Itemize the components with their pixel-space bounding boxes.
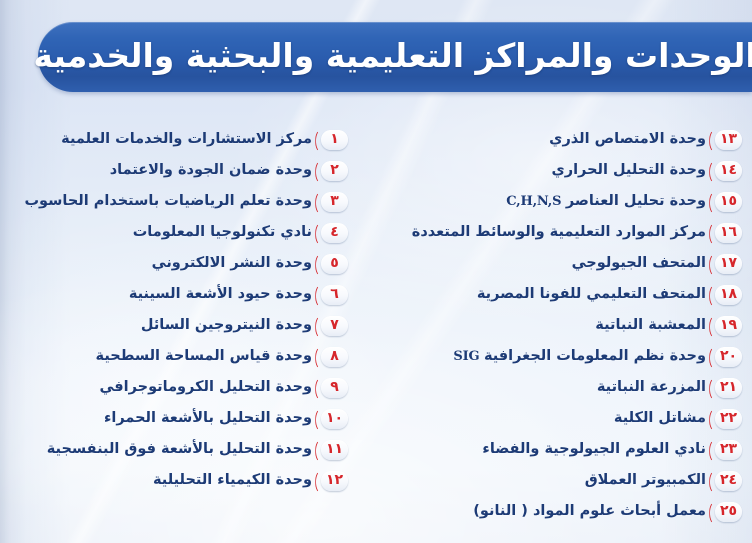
item-number-badge: ١٣	[715, 130, 742, 150]
badge-arc-icon	[315, 160, 328, 184]
item-number-badge: ٤	[321, 223, 348, 243]
list-item[interactable]: ٨وحدة قياس المساحة السطحية	[8, 341, 348, 372]
badge-arc-icon	[315, 253, 328, 277]
list-item[interactable]: ١٠وحدة التحليل بالأشعة الحمراء	[8, 403, 348, 434]
item-number-badge: ١٠	[321, 409, 348, 429]
item-label: وحدة تعلم الرياضيات باستخدام الحاسوب	[24, 194, 312, 210]
item-number: ٣	[330, 194, 339, 209]
item-number-badge: ١٧	[715, 254, 742, 274]
item-number-badge: ٦	[321, 285, 348, 305]
list-item[interactable]: ٣وحدة تعلم الرياضيات باستخدام الحاسوب	[8, 186, 348, 217]
item-number-badge: ٢	[321, 161, 348, 181]
item-number: ٢١	[720, 380, 737, 395]
item-label: مركز الموارد التعليمية والوسائط المتعددة	[412, 225, 706, 241]
item-number: ٢٠	[720, 349, 737, 364]
item-number: ١٢	[326, 473, 343, 488]
item-number: ١	[330, 132, 339, 147]
item-number: ١١	[326, 442, 343, 457]
item-number-badge: ١٦	[715, 223, 742, 243]
item-number-badge: ١٥	[715, 192, 742, 212]
item-number: ١٨	[720, 287, 737, 302]
item-number-badge: ٧	[321, 316, 348, 336]
list-item[interactable]: ٢وحدة ضمان الجودة والاعتماد	[8, 155, 348, 186]
item-number-badge: ٢٥	[715, 502, 742, 522]
list-item[interactable]: ١٥وحدة تحليل العناصر C,H,N,S	[394, 186, 742, 217]
item-number-badge: ٥	[321, 254, 348, 274]
list-item[interactable]: ٧وحدة النيتروجين السائل	[8, 310, 348, 341]
item-label: وحدة التحليل بالأشعة فوق البنفسجية	[47, 442, 312, 458]
item-number: ١٦	[720, 225, 737, 240]
item-number-badge: ٣	[321, 192, 348, 212]
badge-arc-icon	[315, 284, 328, 308]
badge-arc-icon	[709, 160, 722, 184]
item-number: ٤	[330, 225, 339, 240]
item-number-badge: ٩	[321, 378, 348, 398]
list-item[interactable]: ١٧المتحف الجيولوجي	[394, 248, 742, 279]
item-number: ١٩	[720, 318, 737, 333]
item-label: نادي تكنولوجيا المعلومات	[133, 225, 312, 241]
item-number-badge: ٢١	[715, 378, 742, 398]
list-item[interactable]: ٢٠وحدة نظم المعلومات الجغرافية SIG	[394, 341, 742, 372]
item-number-badge: ١١	[321, 440, 348, 460]
list-item[interactable]: ٢٥معمل أبحاث علوم المواد ( النانو)	[394, 496, 742, 527]
list-item[interactable]: ٥وحدة النشر الالكتروني	[8, 248, 348, 279]
badge-arc-icon	[709, 439, 722, 463]
list-item[interactable]: ١٦مركز الموارد التعليمية والوسائط المتعد…	[394, 217, 742, 248]
item-number: ١٣	[720, 132, 737, 147]
item-number-badge: ١٩	[715, 316, 742, 336]
list-item[interactable]: ١٨المتحف التعليمي للفونا المصرية	[394, 279, 742, 310]
list-item[interactable]: ١٢وحدة الكيمياء التحليلية	[8, 465, 348, 496]
item-number: ١٥	[720, 194, 737, 209]
item-label: وحدة حيود الأشعة السينية	[129, 287, 312, 303]
item-number-badge: ١٨	[715, 285, 742, 305]
item-label: وحدة الكيمياء التحليلية	[153, 473, 312, 489]
item-number: ١٧	[720, 256, 737, 271]
item-number-badge: ٢٢	[715, 409, 742, 429]
item-label: المتحف الجيولوجي	[572, 256, 706, 272]
badge-arc-icon	[709, 501, 722, 525]
list-item[interactable]: ٢٤الكمبيوتر العملاق	[394, 465, 742, 496]
item-label-latin: C,H,N,S	[506, 194, 566, 209]
item-number: ٢٥	[720, 504, 737, 519]
header-banner: الوحدات والمراكز التعليمية والبحثية والخ…	[38, 22, 752, 92]
badge-arc-icon	[709, 377, 722, 401]
item-number-badge: ٢٤	[715, 471, 742, 491]
units-column-right: ١مركز الاستشارات والخدمات العلمية٢وحدة ض…	[0, 120, 372, 543]
badge-arc-icon	[315, 222, 328, 246]
badge-arc-icon	[315, 315, 328, 339]
list-item[interactable]: ١٤وحدة التحليل الحراري	[394, 155, 742, 186]
item-label: وحدة التحليل الحراري	[551, 163, 706, 179]
item-label: وحدة نظم المعلومات الجغرافية SIG	[453, 349, 706, 365]
item-label-latin: SIG	[453, 349, 484, 364]
badge-arc-icon	[315, 439, 328, 463]
badge-arc-icon	[709, 253, 722, 277]
units-column-left: ١٣وحدة الامتصاص الذري١٤وحدة التحليل الحر…	[372, 120, 752, 543]
badge-arc-icon	[709, 315, 722, 339]
list-item[interactable]: ٢٣نادي العلوم الجيولوجية والفضاء	[394, 434, 742, 465]
item-label: وحدة التحليل الكروماتوجرافي	[99, 380, 312, 396]
list-item[interactable]: ١٩المعشبة النباتية	[394, 310, 742, 341]
badge-arc-icon	[315, 377, 328, 401]
item-label: مشاتل الكلية	[614, 411, 706, 427]
item-label: وحدة تحليل العناصر C,H,N,S	[506, 194, 706, 210]
item-label: الكمبيوتر العملاق	[585, 473, 706, 489]
item-number: ٢٢	[720, 411, 737, 426]
item-number: ١٠	[326, 411, 343, 426]
item-number-badge: ٨	[321, 347, 348, 367]
item-label: وحدة النشر الالكتروني	[152, 256, 312, 272]
list-item[interactable]: ٢١المزرعة النباتية	[394, 372, 742, 403]
item-label: المعشبة النباتية	[595, 318, 706, 334]
badge-arc-icon	[709, 470, 722, 494]
item-label: وحدة قياس المساحة السطحية	[96, 349, 312, 365]
item-label: نادي العلوم الجيولوجية والفضاء	[482, 442, 706, 458]
item-number: ٨	[330, 349, 339, 364]
item-label: مركز الاستشارات والخدمات العلمية	[61, 132, 312, 148]
list-item[interactable]: ٤نادي تكنولوجيا المعلومات	[8, 217, 348, 248]
badge-arc-icon	[315, 191, 328, 215]
badge-arc-icon	[709, 222, 722, 246]
item-label: معمل أبحاث علوم المواد ( النانو)	[473, 504, 706, 520]
badge-arc-icon	[709, 408, 722, 432]
item-label: المزرعة النباتية	[597, 380, 706, 396]
item-number: ٥	[330, 256, 339, 271]
item-label: وحدة الامتصاص الذري	[549, 132, 706, 148]
item-number-badge: ١٤	[715, 161, 742, 181]
item-number: ١٤	[720, 163, 737, 178]
item-number-badge: ٢٠	[715, 347, 742, 367]
badge-arc-icon	[709, 191, 722, 215]
item-number-badge: ٢٣	[715, 440, 742, 460]
badge-arc-icon	[709, 129, 722, 153]
page-title: الوحدات والمراكز التعليمية والبحثية والخ…	[15, 39, 752, 76]
item-label: وحدة التحليل بالأشعة الحمراء	[104, 411, 312, 427]
item-number: ٦	[330, 287, 339, 302]
list-item[interactable]: ١مركز الاستشارات والخدمات العلمية	[8, 124, 348, 155]
list-item[interactable]: ١٣وحدة الامتصاص الذري	[394, 124, 742, 155]
badge-arc-icon	[315, 346, 328, 370]
item-label: وحدة ضمان الجودة والاعتماد	[110, 163, 312, 179]
item-label: المتحف التعليمي للفونا المصرية	[477, 287, 706, 303]
item-number-badge: ١٢	[321, 471, 348, 491]
item-number: ٩	[330, 380, 339, 395]
item-number: ٢٤	[720, 473, 737, 488]
item-label: وحدة النيتروجين السائل	[141, 318, 312, 334]
list-item[interactable]: ١١وحدة التحليل بالأشعة فوق البنفسجية	[8, 434, 348, 465]
item-number: ٢	[330, 163, 339, 178]
badge-arc-icon	[315, 408, 328, 432]
badge-arc-icon	[315, 470, 328, 494]
badge-arc-icon	[709, 284, 722, 308]
badge-arc-icon	[315, 129, 328, 153]
item-number: ٢٣	[720, 442, 737, 457]
list-item[interactable]: ٦وحدة حيود الأشعة السينية	[8, 279, 348, 310]
item-number-badge: ١	[321, 130, 348, 150]
list-item[interactable]: ٩وحدة التحليل الكروماتوجرافي	[8, 372, 348, 403]
poster-page: الوحدات والمراكز التعليمية والبحثية والخ…	[0, 0, 752, 543]
item-number: ٧	[330, 318, 339, 333]
list-item[interactable]: ٢٢مشاتل الكلية	[394, 403, 742, 434]
units-list-columns: ١٣وحدة الامتصاص الذري١٤وحدة التحليل الحر…	[0, 120, 752, 543]
badge-arc-icon	[709, 346, 722, 370]
